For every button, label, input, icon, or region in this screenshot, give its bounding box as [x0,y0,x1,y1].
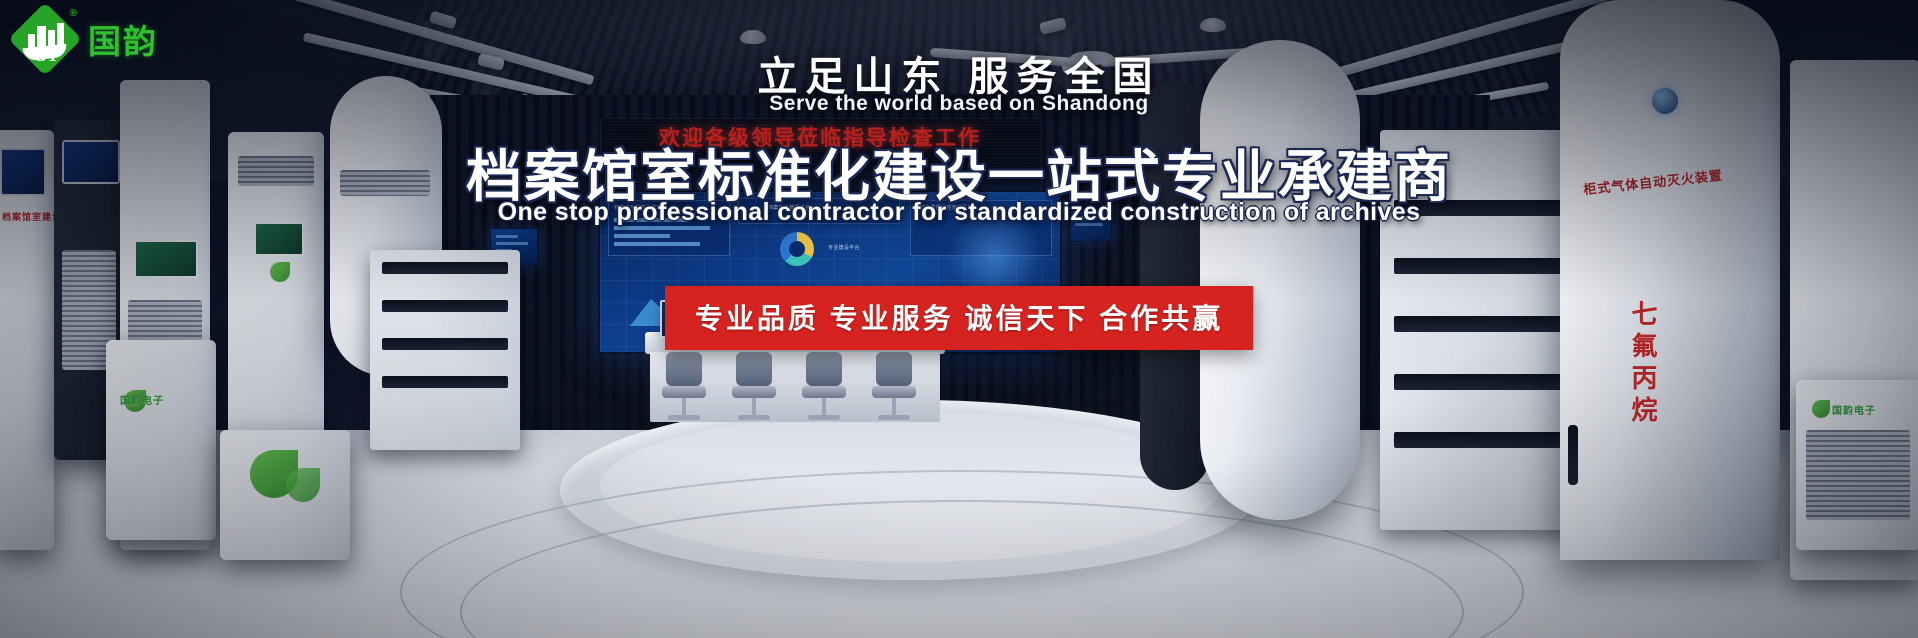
hero-banner: 档案安全防护优势库 档案信息管理平台 专业建设平台 档案数据监控管理系统 国韵智… [0,0,1918,638]
hero-slogan-badge: 专业品质 专业服务 诚信天下 合作共赢 [665,286,1253,350]
hero-subline-en: One stop professional contractor for sta… [0,198,1918,227]
hero-kicker-en: Serve the world based on Shandong [0,92,1918,116]
hero-slogan-wrap: 专业品质 专业服务 诚信天下 合作共赢 [0,286,1918,350]
registered-mark: ® [70,8,77,19]
hero-text-overlay: GY ® 国韵 立足山东 服务全国 Serve the world based … [0,0,1918,638]
